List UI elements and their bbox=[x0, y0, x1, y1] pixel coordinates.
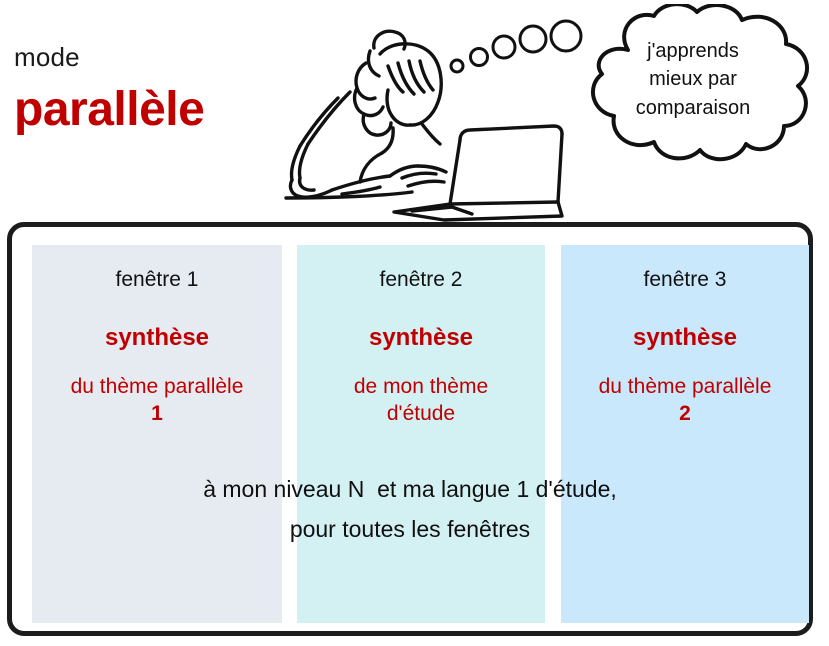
thought-line-3: comparaison bbox=[598, 94, 788, 122]
window-label-3: fenêtre 3 bbox=[561, 269, 809, 290]
board-caption-line-1: à mon niveau N et ma langue 1 d'étude, bbox=[12, 470, 808, 510]
synthesis-number-1: 1 bbox=[151, 402, 163, 425]
synthesis-heading-1: synthèse bbox=[32, 326, 282, 350]
thought-bubble-text: j'apprends mieux par comparaison bbox=[598, 37, 788, 122]
synthesis-subtitle-text-3: du thème parallèle bbox=[599, 375, 772, 398]
synthesis-subtitle-text-2: de mon thème bbox=[354, 375, 488, 398]
window-label-1: fenêtre 1 bbox=[32, 269, 282, 290]
synthesis-subtitle-2: de mon thème d'étude bbox=[297, 374, 545, 428]
synthesis-heading-2: synthèse bbox=[297, 326, 545, 350]
thought-line-2: mieux par bbox=[598, 65, 788, 93]
synthesis-subtitle-text-1: du thème parallèle bbox=[71, 375, 244, 398]
mode-label: mode bbox=[14, 44, 80, 70]
board-caption: à mon niveau N et ma langue 1 d'étude, p… bbox=[12, 470, 808, 549]
window-panel-2[interactable]: fenêtre 2 synthèse de mon thème d'étude bbox=[297, 245, 545, 623]
slide-root: mode parallèle bbox=[0, 0, 829, 646]
window-label-2: fenêtre 2 bbox=[297, 269, 545, 290]
synthesis-subtitle-3: du thème parallèle 2 bbox=[561, 374, 809, 428]
page-title: parallèle bbox=[14, 86, 204, 134]
synthesis-number-2: d'étude bbox=[387, 402, 455, 425]
window-panel-2-content: fenêtre 2 synthèse de mon thème d'étude bbox=[297, 269, 545, 428]
panels-container: fenêtre 1 synthèse du thème parallèle 1 … bbox=[12, 227, 808, 631]
window-panel-1-content: fenêtre 1 synthèse du thème parallèle 1 bbox=[32, 269, 282, 428]
board-caption-line-2: pour toutes les fenêtres bbox=[12, 510, 808, 550]
synthesis-heading-3: synthèse bbox=[561, 326, 809, 350]
window-panel-3[interactable]: fenêtre 3 synthèse du thème parallèle 2 bbox=[561, 245, 809, 623]
synthesis-subtitle-1: du thème parallèle 1 bbox=[32, 374, 282, 428]
windows-board: fenêtre 1 synthèse du thème parallèle 1 … bbox=[7, 222, 813, 636]
header-area: mode parallèle bbox=[0, 0, 829, 222]
synthesis-number-3: 2 bbox=[679, 402, 691, 425]
window-panel-3-content: fenêtre 3 synthèse du thème parallèle 2 bbox=[561, 269, 809, 428]
thought-line-1: j'apprends bbox=[598, 37, 788, 65]
window-panel-1[interactable]: fenêtre 1 synthèse du thème parallèle 1 bbox=[32, 245, 282, 623]
